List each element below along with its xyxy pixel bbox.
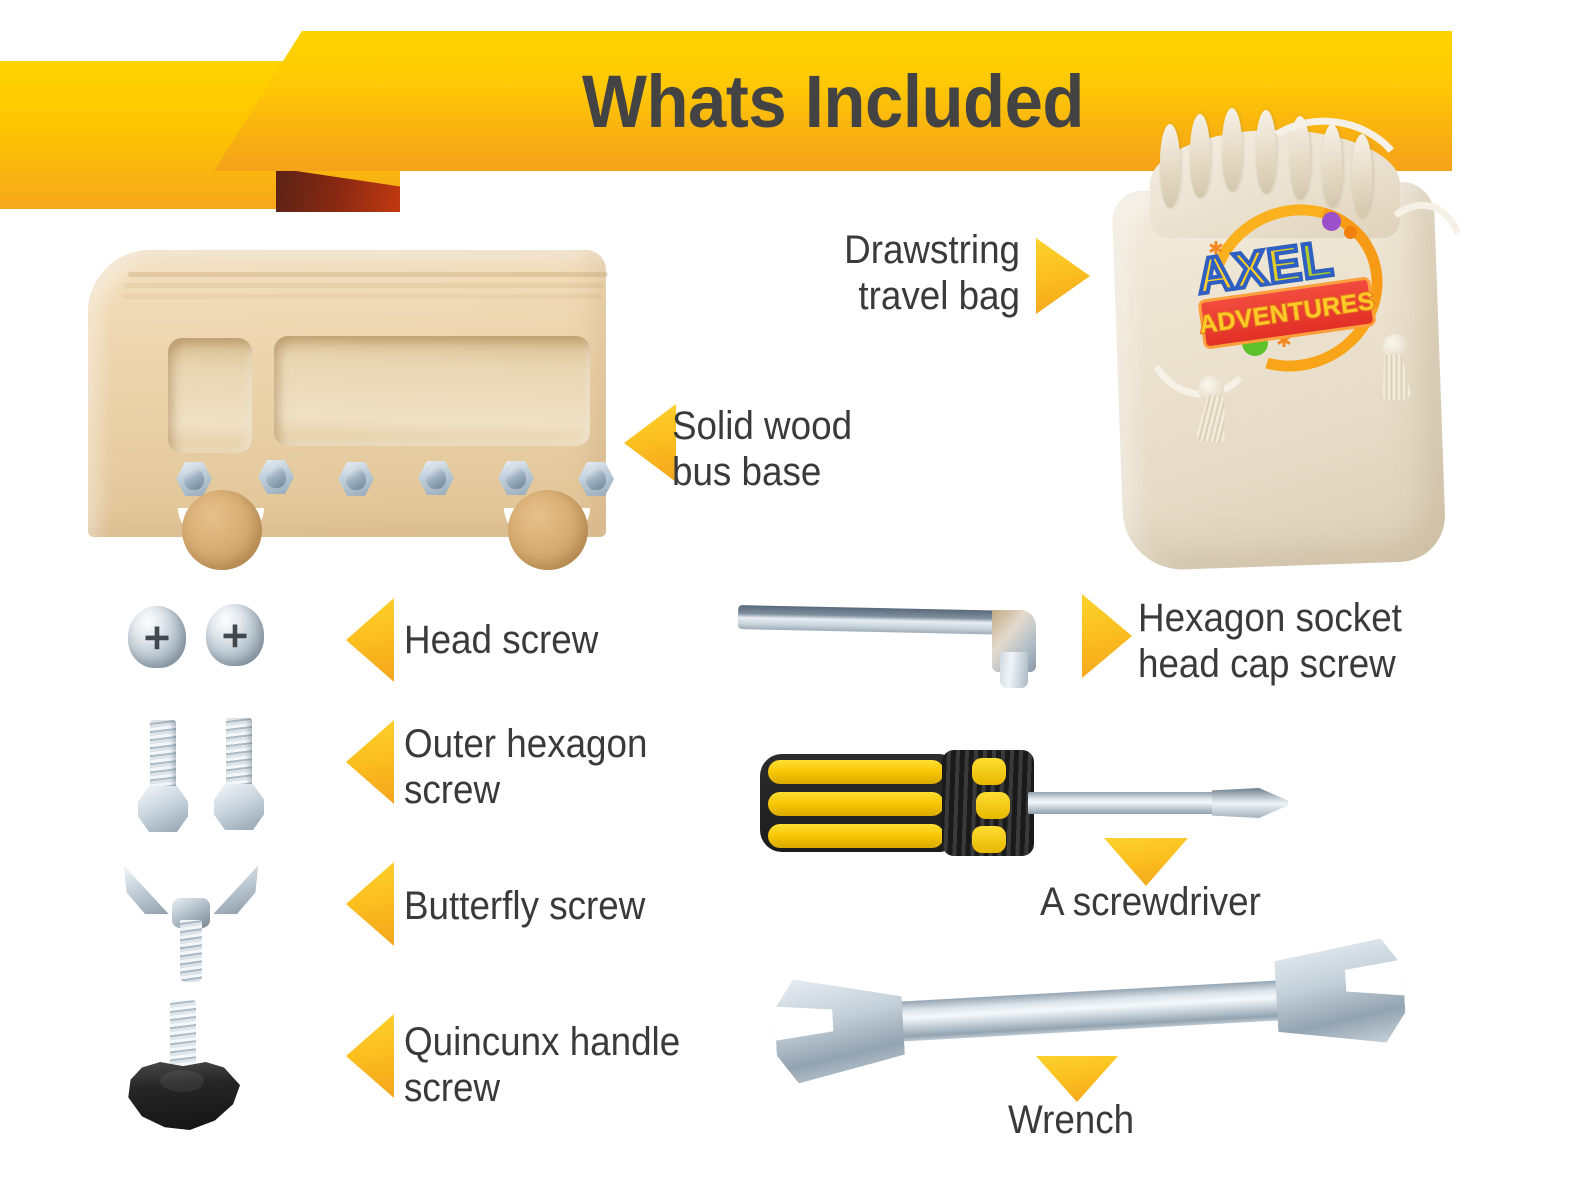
callout-arrow-hexagon-socket-head-cap-screw: [1082, 594, 1132, 678]
callout-label-head-screw: Head screw: [404, 618, 680, 664]
infographic-canvas: Whats Included: [0, 0, 1588, 1191]
callout-arrow-quincunx-handle-screw: [346, 1014, 394, 1098]
callout-arrow-wrench: [1036, 1056, 1118, 1102]
callout-label-hexagon-socket-head-cap-screw: Hexagon socket head cap screw: [1138, 596, 1442, 687]
callout-label-wrench: Wrench: [1008, 1098, 1247, 1144]
head-screw-image: [128, 606, 186, 668]
callout-arrow-outer-hexagon-screw: [346, 720, 394, 804]
bus-wheel: [508, 490, 588, 570]
screwdriver-shaft: [1028, 792, 1228, 814]
outer-hexagon-screw-image: [136, 720, 190, 832]
wrench-shaft: [860, 978, 1322, 1044]
callout-label-outer-hexagon-screw: Outer hexagon screw: [404, 722, 680, 813]
bus-wheel: [182, 490, 262, 570]
bus-roof-line: [124, 283, 604, 288]
bag-ruffle: [1190, 114, 1210, 198]
head-screw-image: [206, 604, 264, 666]
callout-label-drawstring-travel-bag: Drawstring travel bag: [790, 228, 1020, 319]
callout-arrow-a-screwdriver: [1104, 838, 1188, 886]
screwdriver-image: [760, 748, 1300, 858]
outer-hexagon-screw-image: [212, 718, 266, 830]
callout-label-solid-wood-bus-base: Solid wood bus base: [672, 404, 911, 495]
wooden-bus-base-image: [66, 250, 606, 560]
callout-arrow-drawstring-travel-bag: [1036, 238, 1090, 314]
callout-label-butterfly-screw: Butterfly screw: [404, 884, 698, 930]
callout-label-a-screwdriver: A screwdriver: [1040, 880, 1344, 926]
axel-adventures-logo: ✱ ✱ AXEL ADVENTURES: [1190, 200, 1380, 360]
drawstring-travel-bag-image: ✱ ✱ AXEL ADVENTURES: [1106, 108, 1446, 568]
bag-ruffle: [1222, 108, 1242, 192]
bus-roof-line: [122, 294, 602, 299]
callout-arrow-solid-wood-bus-base: [624, 404, 676, 482]
bus-roof-line: [128, 272, 608, 277]
butterfly-screw-image: [126, 862, 256, 982]
bag-ruffle: [1160, 124, 1180, 208]
hexagon-socket-key-image: [738, 594, 1048, 699]
screwdriver-phillips-tip: [1212, 788, 1288, 818]
callout-label-quincunx-handle-screw: Quincunx handle screw: [404, 1020, 708, 1111]
callout-arrow-head-screw: [346, 598, 394, 682]
bus-window-side: [274, 336, 590, 446]
bus-window-front: [168, 338, 252, 453]
callout-arrow-butterfly-screw: [346, 862, 394, 946]
quincunx-handle-screw-image: [120, 1000, 246, 1130]
